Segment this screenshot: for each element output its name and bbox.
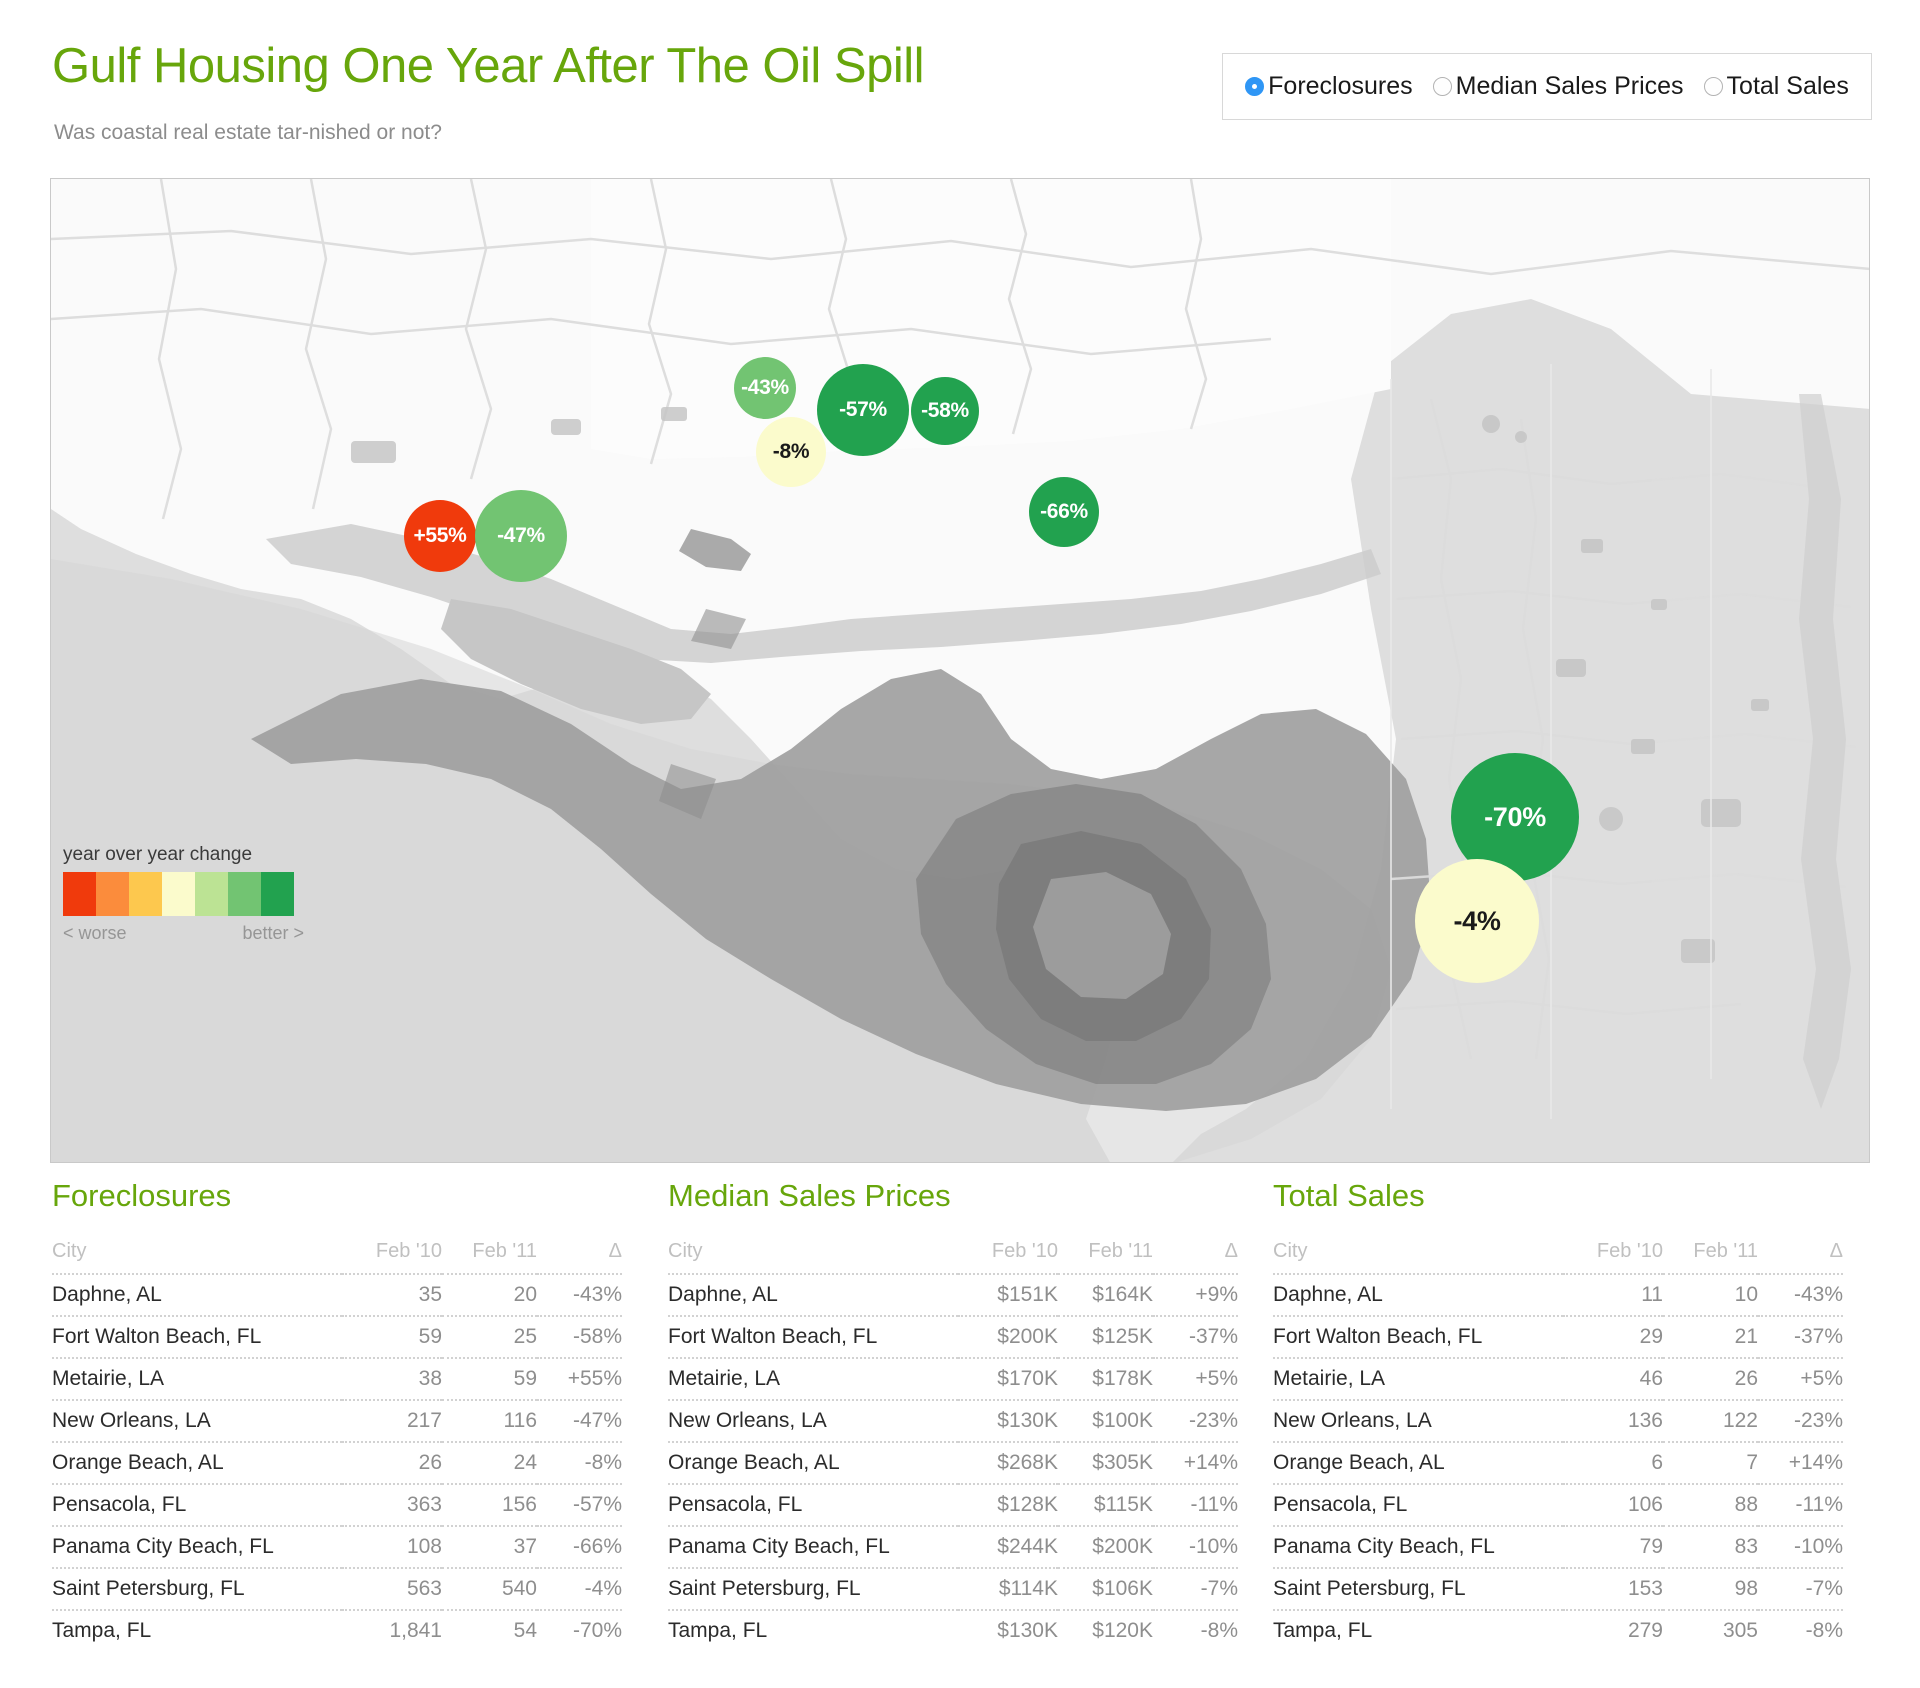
cell-feb10: 35 [342,1274,442,1316]
cell-delta: -7% [1758,1568,1843,1610]
table-row[interactable]: Daphne, AL1110-43% [1273,1274,1843,1316]
radio-option-total-sales[interactable]: Total Sales [1694,72,1859,101]
cell-city: Orange Beach, AL [52,1442,342,1484]
cell-feb10: $200K [958,1316,1058,1358]
total-sales-table: City Feb '10 Feb '11 Δ Daphne, AL1110-43… [1273,1240,1843,1651]
cell-city: Pensacola, FL [52,1484,342,1526]
page-title: Gulf Housing One Year After The Oil Spil… [52,38,924,94]
cell-feb10: $244K [958,1526,1058,1568]
cell-delta: -11% [1758,1484,1843,1526]
cell-feb11: 122 [1663,1400,1758,1442]
table-header-row: City Feb '10 Feb '11 Δ [668,1240,1238,1274]
cell-feb11: 21 [1663,1316,1758,1358]
table-title-total-sales: Total Sales [1273,1178,1860,1214]
cell-feb10: 363 [342,1484,442,1526]
cell-feb11: $200K [1058,1526,1153,1568]
radio-option-foreclosures[interactable]: Foreclosures [1235,72,1423,101]
cell-feb11: $106K [1058,1568,1153,1610]
data-tables: Foreclosures City Feb '10 Feb '11 Δ Daph… [0,1178,1920,1651]
cell-feb11: 54 [442,1610,537,1651]
cell-city: Orange Beach, AL [1273,1442,1563,1484]
table-row[interactable]: Metairie, LA3859+55% [52,1358,622,1400]
cell-feb10: 279 [1563,1610,1663,1651]
cell-delta: -37% [1758,1316,1843,1358]
cell-feb11: 7 [1663,1442,1758,1484]
cell-city: New Orleans, LA [52,1400,342,1442]
cell-feb11: $305K [1058,1442,1153,1484]
table-row[interactable]: Panama City Beach, FL10837-66% [52,1526,622,1568]
cell-feb11: $164K [1058,1274,1153,1316]
cell-feb11: 156 [442,1484,537,1526]
cell-feb11: 116 [442,1400,537,1442]
cell-feb10: $130K [958,1400,1058,1442]
cell-city: Daphne, AL [668,1274,958,1316]
table-row[interactable]: Panama City Beach, FL$244K$200K-10% [668,1526,1238,1568]
cell-feb11: 540 [442,1568,537,1610]
cell-feb10: 217 [342,1400,442,1442]
cell-feb11: 305 [1663,1610,1758,1651]
column-header-delta[interactable]: Δ [1758,1240,1843,1274]
table-row[interactable]: New Orleans, LA$130K$100K-23% [668,1400,1238,1442]
cell-delta: +5% [1153,1358,1238,1400]
cell-city: Panama City Beach, FL [1273,1526,1563,1568]
cell-delta: -57% [537,1484,622,1526]
cell-feb10: 108 [342,1526,442,1568]
table-row[interactable]: Pensacola, FL363156-57% [52,1484,622,1526]
table-block-median-sales-prices: Median Sales Prices City Feb '10 Feb '11… [620,1178,1240,1651]
cell-city: Metairie, LA [52,1358,342,1400]
column-header-feb10[interactable]: Feb '10 [1563,1240,1663,1274]
bubble-value-label: -43% [741,376,789,400]
table-row[interactable]: Saint Petersburg, FL15398-7% [1273,1568,1843,1610]
legend-swatch-4 [195,872,228,916]
cell-feb11: 26 [1663,1358,1758,1400]
column-header-feb10[interactable]: Feb '10 [342,1240,442,1274]
table-header-row: City Feb '10 Feb '11 Δ [52,1240,622,1274]
cell-city: Pensacola, FL [668,1484,958,1526]
cell-delta: -70% [537,1610,622,1651]
cell-city: Pensacola, FL [1273,1484,1563,1526]
map-basemap-graphic [51,179,1870,1163]
cell-feb10: $128K [958,1484,1058,1526]
column-header-feb11[interactable]: Feb '11 [442,1240,537,1274]
cell-feb11: 24 [442,1442,537,1484]
cell-delta: -4% [537,1568,622,1610]
radio-dot-icon[interactable] [1433,77,1452,96]
map-bubble-orange-beach-al[interactable]: -8% [756,417,826,487]
legend-color-scale [63,872,294,916]
table-row[interactable]: Panama City Beach, FL7983-10% [1273,1526,1843,1568]
cell-city: Orange Beach, AL [668,1442,958,1484]
cell-delta: +9% [1153,1274,1238,1316]
cell-city: New Orleans, LA [1273,1400,1563,1442]
radio-dot-icon[interactable] [1245,77,1264,96]
cell-city: Daphne, AL [52,1274,342,1316]
column-header-feb11[interactable]: Feb '11 [1058,1240,1153,1274]
cell-feb10: $130K [958,1610,1058,1651]
cell-feb11: 88 [1663,1484,1758,1526]
cell-feb10: 6 [1563,1442,1663,1484]
cell-feb11: 83 [1663,1526,1758,1568]
cell-feb11: 37 [442,1526,537,1568]
cell-feb11: 20 [442,1274,537,1316]
table-header-row: City Feb '10 Feb '11 Δ [1273,1240,1843,1274]
cell-feb11: $120K [1058,1610,1153,1651]
table-row[interactable]: Tampa, FL1,84154-70% [52,1610,622,1651]
cell-city: Tampa, FL [52,1610,342,1651]
cell-delta: +5% [1758,1358,1843,1400]
cell-feb10: 29 [1563,1316,1663,1358]
cell-feb11: 25 [442,1316,537,1358]
cell-feb10: 11 [1563,1274,1663,1316]
table-block-foreclosures: Foreclosures City Feb '10 Feb '11 Δ Daph… [0,1178,620,1651]
table-row[interactable]: Pensacola, FL10688-11% [1273,1484,1843,1526]
cell-delta: -8% [537,1442,622,1484]
cell-feb10: 59 [342,1316,442,1358]
radio-label-median-sales-prices: Median Sales Prices [1456,72,1684,101]
cell-city: Panama City Beach, FL [52,1526,342,1568]
table-row[interactable]: Orange Beach, AL$268K$305K+14% [668,1442,1238,1484]
table-row[interactable]: Pensacola, FL$128K$115K-11% [668,1484,1238,1526]
column-header-feb11[interactable]: Feb '11 [1663,1240,1758,1274]
map-bubble-panama-city-beach-fl[interactable]: -66% [1029,477,1099,547]
cell-city: Metairie, LA [1273,1358,1563,1400]
cell-delta: -43% [537,1274,622,1316]
radio-label-foreclosures: Foreclosures [1268,72,1413,101]
cell-delta: -66% [537,1526,622,1568]
cell-feb10: $268K [958,1442,1058,1484]
cell-delta: -43% [1758,1274,1843,1316]
table-row[interactable]: Tampa, FL279305-8% [1273,1610,1843,1651]
cell-delta: +55% [537,1358,622,1400]
map-bubble-metairie-la[interactable]: +55% [404,500,476,572]
bubble-value-label: -70% [1484,802,1546,833]
cell-feb11: $125K [1058,1316,1153,1358]
legend-swatch-1 [96,872,129,916]
legend-swatch-6 [261,872,294,916]
legend-worse-label: < worse [63,923,127,944]
cell-feb10: $170K [958,1358,1058,1400]
cell-feb10: 26 [342,1442,442,1484]
radio-dot-icon[interactable] [1704,77,1723,96]
table-row[interactable]: Fort Walton Beach, FL5925-58% [52,1316,622,1358]
cell-city: Saint Petersburg, FL [668,1568,958,1610]
foreclosures-table: City Feb '10 Feb '11 Δ Daphne, AL3520-43… [52,1240,622,1651]
column-header-city[interactable]: City [52,1240,342,1274]
table-row[interactable]: Saint Petersburg, FL$114K$106K-7% [668,1568,1238,1610]
cell-city: Panama City Beach, FL [668,1526,958,1568]
cell-delta: +14% [1153,1442,1238,1484]
cell-city: Tampa, FL [1273,1610,1563,1651]
legend-swatch-5 [228,872,261,916]
table-row[interactable]: Tampa, FL$130K$120K-8% [668,1610,1238,1651]
bubble-value-label: -66% [1040,500,1088,524]
column-header-delta[interactable]: Δ [537,1240,622,1274]
cell-city: Saint Petersburg, FL [1273,1568,1563,1610]
cell-city: Daphne, AL [1273,1274,1563,1316]
cell-city: Fort Walton Beach, FL [1273,1316,1563,1358]
cell-city: Fort Walton Beach, FL [668,1316,958,1358]
table-title-foreclosures: Foreclosures [52,1178,620,1214]
legend-better-label: better > [242,923,304,944]
cell-delta: -10% [1153,1526,1238,1568]
cell-delta: -37% [1153,1316,1238,1358]
cell-feb10: $114K [958,1568,1058,1610]
table-row[interactable]: Saint Petersburg, FL563540-4% [52,1568,622,1610]
cell-feb11: 10 [1663,1274,1758,1316]
column-header-city[interactable]: City [1273,1240,1563,1274]
cell-delta: -7% [1153,1568,1238,1610]
page-header: Gulf Housing One Year After The Oil Spil… [0,0,1920,175]
cell-city: New Orleans, LA [668,1400,958,1442]
radio-option-median-sales-prices[interactable]: Median Sales Prices [1423,72,1694,101]
map-bubble-saint-petersburg-fl[interactable]: -4% [1415,859,1539,983]
cell-delta: -58% [537,1316,622,1358]
cell-feb10: 46 [1563,1358,1663,1400]
cell-delta: -11% [1153,1484,1238,1526]
cell-city: Saint Petersburg, FL [52,1568,342,1610]
cell-delta: -23% [1153,1400,1238,1442]
table-row[interactable]: Daphne, AL3520-43% [52,1274,622,1316]
cell-delta: +14% [1758,1442,1843,1484]
metric-switcher[interactable]: Foreclosures Median Sales Prices Total S… [1222,53,1872,120]
cell-city: Metairie, LA [668,1358,958,1400]
table-row[interactable]: Daphne, AL$151K$164K+9% [668,1274,1238,1316]
table-row[interactable]: Orange Beach, AL67+14% [1273,1442,1843,1484]
cell-feb10: $151K [958,1274,1058,1316]
dashboard-page: Gulf Housing One Year After The Oil Spil… [0,0,1920,1688]
cell-feb10: 1,841 [342,1610,442,1651]
map-bubble-new-orleans-la[interactable]: -47% [475,490,567,582]
cell-delta: -8% [1153,1610,1238,1651]
column-header-feb10[interactable]: Feb '10 [958,1240,1058,1274]
cell-feb11: 98 [1663,1568,1758,1610]
cell-delta: -8% [1758,1610,1843,1651]
column-header-delta[interactable]: Δ [1153,1240,1238,1274]
table-row[interactable]: Fort Walton Beach, FL$200K$125K-37% [668,1316,1238,1358]
cell-feb11: $115K [1058,1484,1153,1526]
table-row[interactable]: New Orleans, LA136122-23% [1273,1400,1843,1442]
cell-delta: -47% [537,1400,622,1442]
cell-feb10: 106 [1563,1484,1663,1526]
column-header-city[interactable]: City [668,1240,958,1274]
table-row[interactable]: Metairie, LA$170K$178K+5% [668,1358,1238,1400]
page-subtitle: Was coastal real estate tar-nished or no… [54,121,442,145]
legend-swatch-0 [63,872,96,916]
median-sales-prices-table: City Feb '10 Feb '11 Δ Daphne, AL$151K$1… [668,1240,1238,1651]
bubble-value-label: +55% [413,524,466,548]
map-bubble-pensacola-fl[interactable]: -57% [817,364,909,456]
cell-feb10: 136 [1563,1400,1663,1442]
map-bubble-fort-walton-beach-fl[interactable]: -58% [911,377,979,445]
cell-feb10: 38 [342,1358,442,1400]
cell-feb11: 59 [442,1358,537,1400]
table-row[interactable]: Metairie, LA4626+5% [1273,1358,1843,1400]
table-row[interactable]: New Orleans, LA217116-47% [52,1400,622,1442]
cell-feb11: $100K [1058,1400,1153,1442]
cell-city: Fort Walton Beach, FL [52,1316,342,1358]
table-row[interactable]: Orange Beach, AL2624-8% [52,1442,622,1484]
cell-feb10: 563 [342,1568,442,1610]
legend-swatch-2 [129,872,162,916]
bubble-value-label: -4% [1453,906,1500,937]
bubble-value-label: -47% [497,524,545,548]
table-block-total-sales: Total Sales City Feb '10 Feb '11 Δ Daphn… [1240,1178,1860,1651]
cell-city: Tampa, FL [668,1610,958,1651]
legend-title: year over year change [63,844,343,866]
cell-delta: -10% [1758,1526,1843,1568]
cell-feb10: 79 [1563,1526,1663,1568]
bubble-value-label: -8% [773,440,809,464]
legend-end-labels: < worse better > [63,923,304,944]
bubble-value-label: -58% [921,399,969,423]
map-legend: year over year change < worse better > [63,844,343,944]
table-row[interactable]: Fort Walton Beach, FL2921-37% [1273,1316,1843,1358]
cell-delta: -23% [1758,1400,1843,1442]
table-title-median-sales-prices: Median Sales Prices [668,1178,1240,1214]
cell-feb10: 153 [1563,1568,1663,1610]
map-bubble-daphne-al[interactable]: -43% [734,357,796,419]
bubble-value-label: -57% [839,398,887,422]
radio-label-total-sales: Total Sales [1727,72,1849,101]
legend-swatch-3 [162,872,195,916]
cell-feb11: $178K [1058,1358,1153,1400]
gulf-coast-map[interactable]: -43%-57%-58%-8%-66%+55%-47%-70%-4% year … [50,178,1870,1163]
